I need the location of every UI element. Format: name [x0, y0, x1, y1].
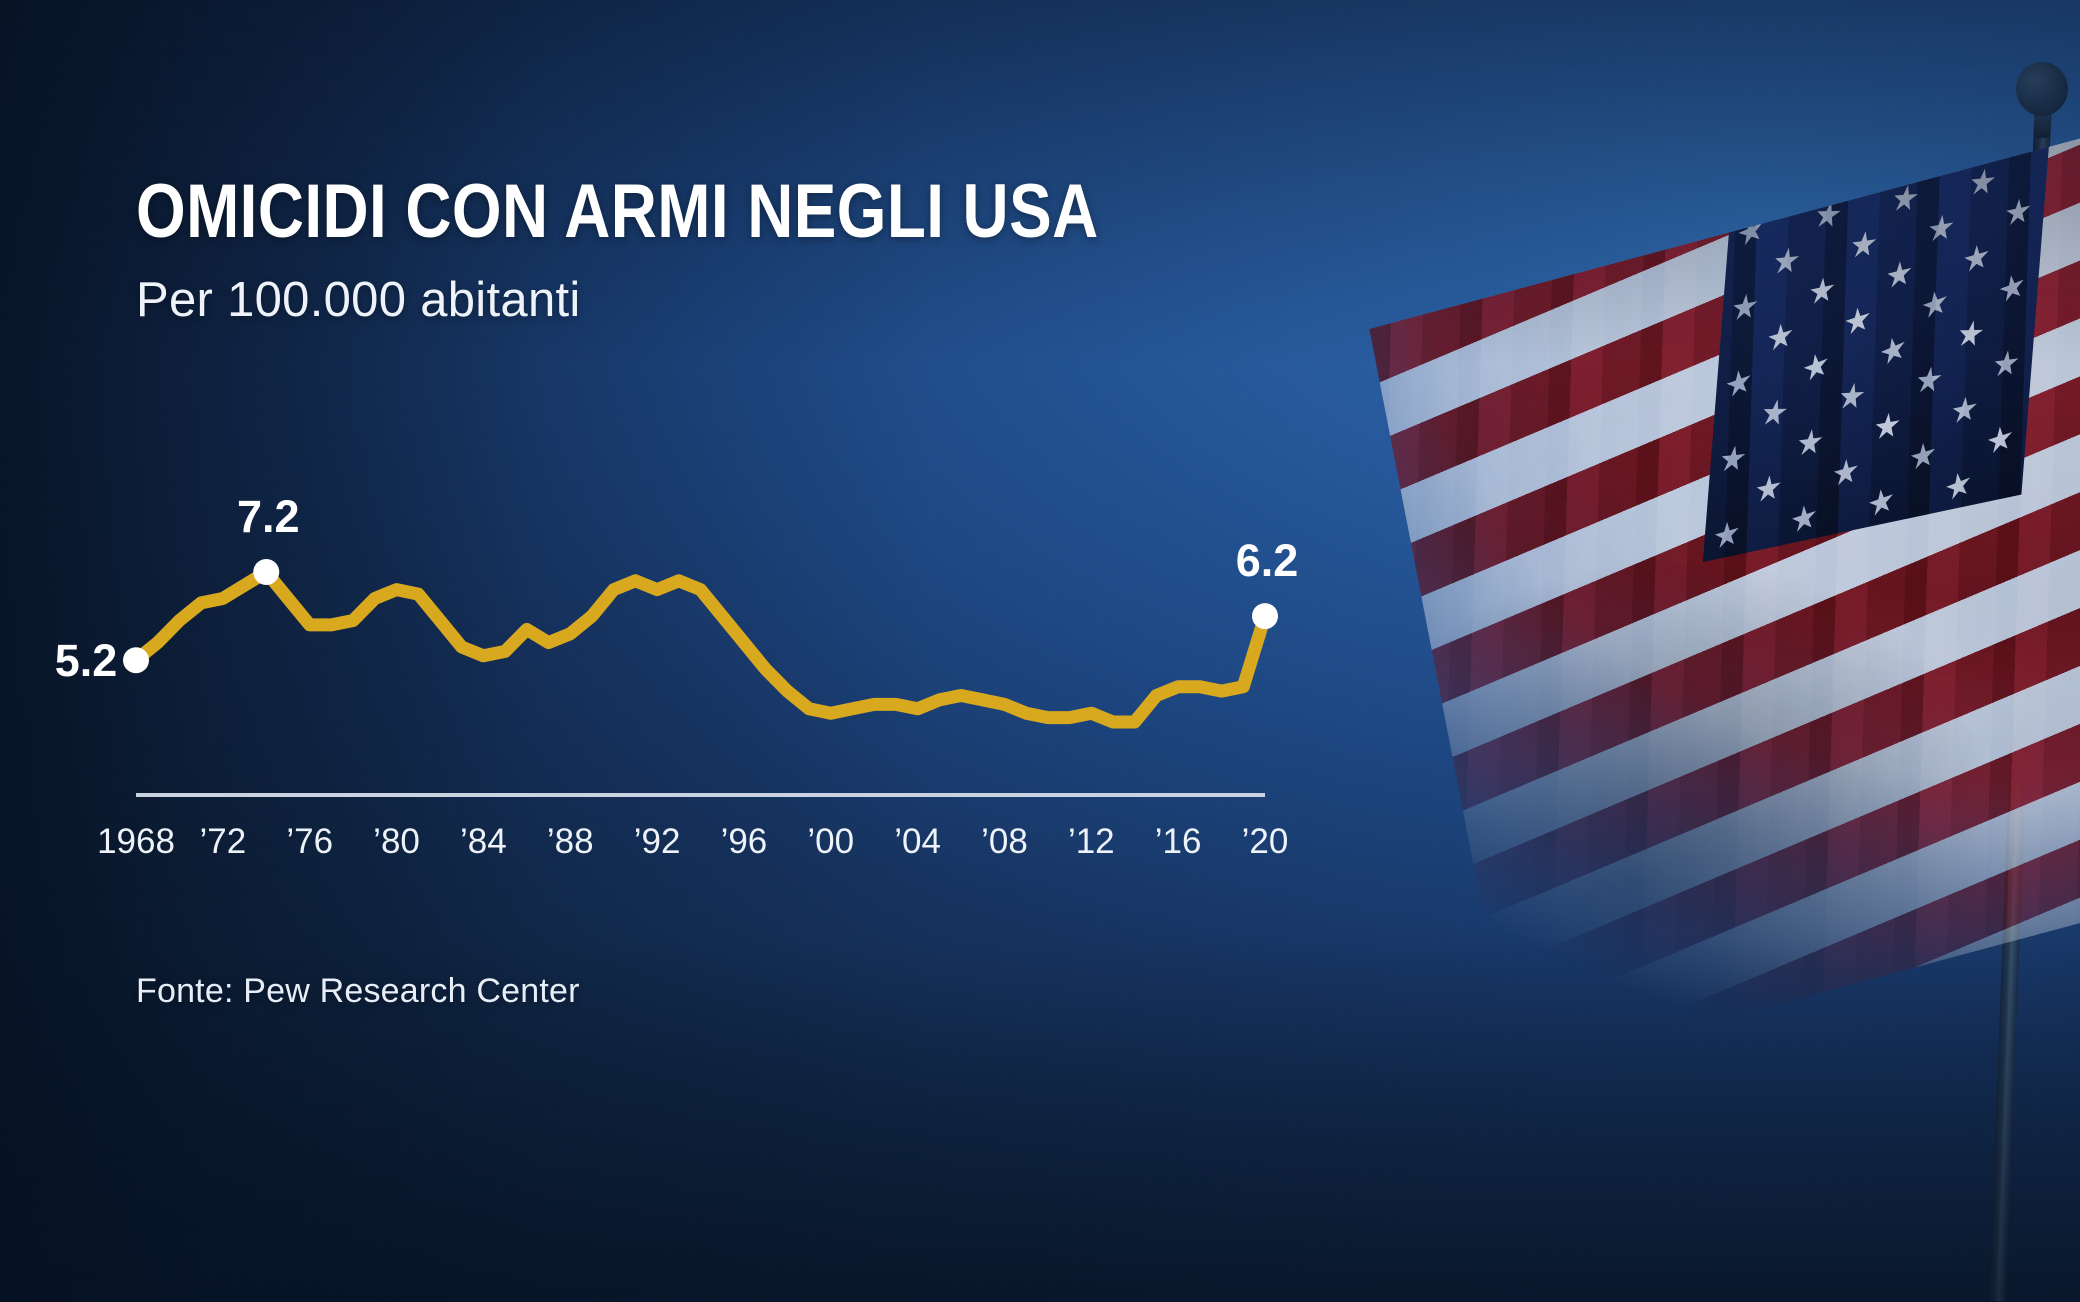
value-label: 6.2: [1236, 535, 1299, 586]
x-tick-label: ’16: [1155, 822, 1202, 861]
x-tick-label: ’08: [981, 822, 1028, 861]
homicide-rate-series: [136, 572, 1265, 722]
value-label: 7.2: [237, 491, 300, 542]
x-tick-label: ’76: [286, 822, 333, 861]
x-tick-label: ’84: [460, 822, 507, 861]
infographic-canvas: OMICIDI CON ARMI NEGLI USA Per 100.000 a…: [0, 0, 2080, 1302]
x-axis-tick-labels: 1968’72’76’80’84’88’92’96’00’04’08’12’16…: [97, 822, 1288, 861]
x-tick-label: ’80: [373, 822, 420, 861]
line-chart: 5.27.26.2 1968’72’76’80’84’88’92’96’00’0…: [0, 0, 2080, 1302]
x-tick-label: ’88: [547, 822, 594, 861]
data-point-marker: [123, 647, 149, 673]
value-label: 5.2: [55, 635, 118, 686]
data-point-marker: [253, 559, 279, 585]
x-tick-label: ’12: [1068, 822, 1115, 861]
x-tick-label: ’04: [894, 822, 941, 861]
x-tick-label: ’96: [721, 822, 768, 861]
x-tick-label: ’72: [199, 822, 246, 861]
x-tick-label: ’20: [1242, 822, 1289, 861]
x-tick-label: ’92: [634, 822, 681, 861]
x-tick-label: 1968: [97, 822, 175, 861]
x-tick-label: ’00: [807, 822, 854, 861]
data-point-marker: [1252, 603, 1278, 629]
